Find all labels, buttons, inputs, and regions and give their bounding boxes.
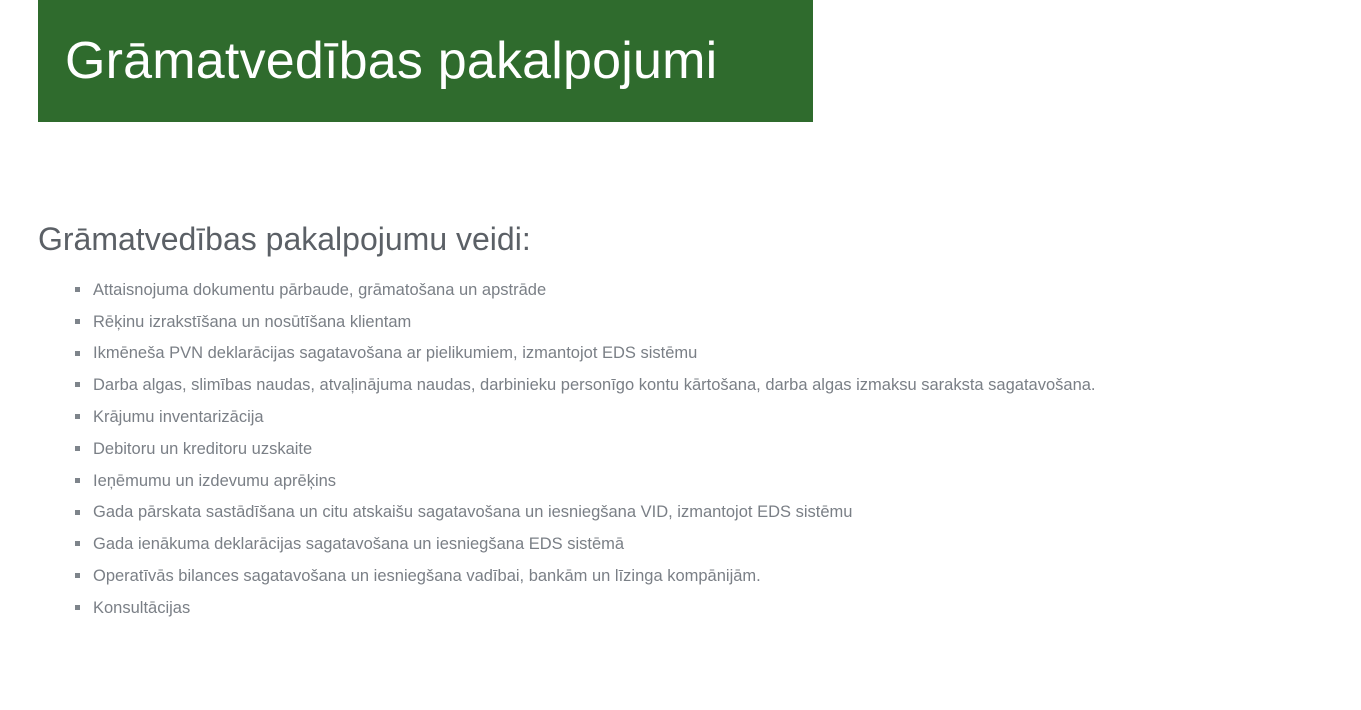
square-bullet-icon bbox=[75, 319, 80, 324]
list-item: Krājumu inventarizācija bbox=[75, 401, 1345, 433]
square-bullet-icon bbox=[75, 414, 80, 419]
section-heading: Grāmatvedības pakalpojumu veidi: bbox=[38, 220, 531, 258]
list-item-label: Konsultācijas bbox=[93, 597, 190, 619]
square-bullet-icon bbox=[75, 351, 80, 356]
list-item-label: Rēķinu izrakstīšana un nosūtīšana klient… bbox=[93, 311, 411, 333]
list-item: Ieņēmumu un izdevumu aprēķins bbox=[75, 465, 1345, 497]
square-bullet-icon bbox=[75, 573, 80, 578]
list-item: Rēķinu izrakstīšana un nosūtīšana klient… bbox=[75, 306, 1345, 338]
services-list: Attaisnojuma dokumentu pārbaude, grāmato… bbox=[75, 274, 1345, 624]
list-item: Attaisnojuma dokumentu pārbaude, grāmato… bbox=[75, 274, 1345, 306]
page-title: Grāmatvedības pakalpojumi bbox=[65, 34, 717, 89]
page-title-banner: Grāmatvedības pakalpojumi bbox=[38, 0, 813, 122]
list-item: Gada ienākuma deklarācijas sagatavošana … bbox=[75, 528, 1345, 560]
square-bullet-icon bbox=[75, 287, 80, 292]
list-item-label: Darba algas, slimības naudas, atvaļināju… bbox=[93, 374, 1096, 396]
square-bullet-icon bbox=[75, 382, 80, 387]
list-item-label: Krājumu inventarizācija bbox=[93, 406, 264, 428]
list-item-label: Operatīvās bilances sagatavošana un iesn… bbox=[93, 565, 761, 587]
square-bullet-icon bbox=[75, 510, 80, 515]
list-item: Ikmēneša PVN deklarācijas sagatavošana a… bbox=[75, 338, 1345, 370]
page-root: Grāmatvedības pakalpojumi Grāmatvedības … bbox=[0, 0, 1361, 710]
list-item: Operatīvās bilances sagatavošana un iesn… bbox=[75, 560, 1345, 592]
list-item-label: Ikmēneša PVN deklarācijas sagatavošana a… bbox=[93, 342, 697, 364]
list-item: Darba algas, slimības naudas, atvaļināju… bbox=[75, 369, 1345, 401]
square-bullet-icon bbox=[75, 605, 80, 610]
list-item-label: Ieņēmumu un izdevumu aprēķins bbox=[93, 470, 336, 492]
list-item-label: Gada pārskata sastādīšana un citu atskai… bbox=[93, 501, 852, 523]
square-bullet-icon bbox=[75, 478, 80, 483]
list-item: Gada pārskata sastādīšana un citu atskai… bbox=[75, 497, 1345, 529]
list-item-label: Attaisnojuma dokumentu pārbaude, grāmato… bbox=[93, 279, 546, 301]
square-bullet-icon bbox=[75, 541, 80, 546]
list-item-label: Gada ienākuma deklarācijas sagatavošana … bbox=[93, 533, 624, 555]
square-bullet-icon bbox=[75, 446, 80, 451]
list-item-label: Debitoru un kreditoru uzskaite bbox=[93, 438, 312, 460]
list-item: Debitoru un kreditoru uzskaite bbox=[75, 433, 1345, 465]
list-item: Konsultācijas bbox=[75, 592, 1345, 624]
